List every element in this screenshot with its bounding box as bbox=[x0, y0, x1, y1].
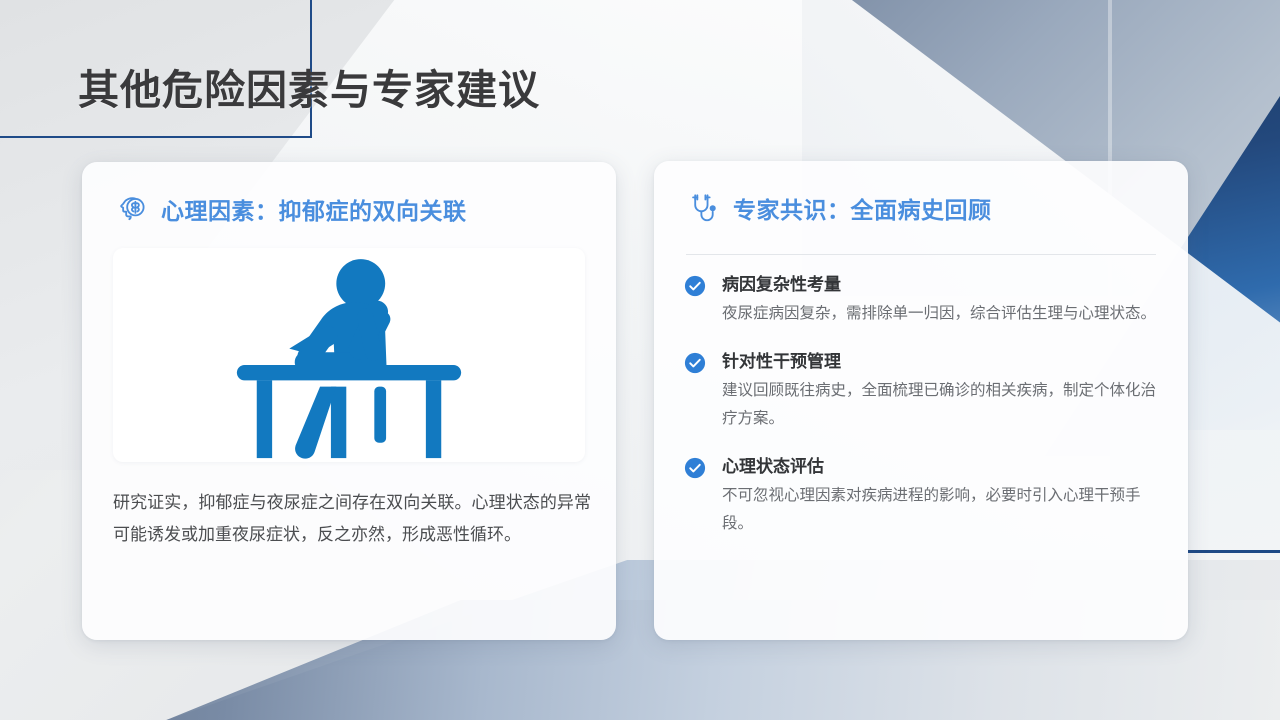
list-item-desc: 建议回顾既往病史，全面梳理已确诊的相关疾病，制定个体化治疗方案。 bbox=[722, 377, 1160, 433]
background-navy-rule-right bbox=[1188, 550, 1280, 553]
card-psychological-factors: 心理因素：抑郁症的双向关联 bbox=[82, 162, 616, 640]
list-item-title: 心理状态评估 bbox=[722, 455, 1160, 479]
left-card-heading: 心理因素：抑郁症的双向关联 bbox=[161, 192, 467, 226]
list-item-desc: 不可忽视心理因素对疾病进程的影响，必要时引入心理干预手段。 bbox=[722, 482, 1160, 538]
slide-root: 其他危险因素与专家建议 心理因素：抑郁症的双向关联 bbox=[0, 0, 1280, 720]
list-item: 针对性干预管理 建议回顾既往病史，全面梳理已确诊的相关疾病，制定个体化治疗方案。 bbox=[684, 350, 1160, 433]
check-circle-icon bbox=[684, 275, 706, 297]
list-item-title: 病因复杂性考量 bbox=[722, 273, 1160, 297]
list-item-title: 针对性干预管理 bbox=[722, 350, 1160, 374]
card-expert-consensus: 专家共识：全面病史回顾 病因复杂性考量 夜尿症病因复杂，需排除单一归因，综合评估… bbox=[654, 161, 1188, 640]
list-item: 病因复杂性考量 夜尿症病因复杂，需排除单一归因，综合评估生理与心理状态。 bbox=[684, 273, 1160, 328]
stethoscope-icon bbox=[686, 191, 720, 225]
right-card-divider bbox=[686, 254, 1156, 255]
expert-consensus-list: 病因复杂性考量 夜尿症病因复杂，需排除单一归因，综合评估生理与心理状态。 针对性… bbox=[684, 273, 1160, 538]
check-circle-icon bbox=[684, 457, 706, 479]
depressed-person-at-desk-illustration bbox=[113, 248, 585, 462]
page-title: 其他危险因素与专家建议 bbox=[78, 56, 540, 116]
right-card-header: 专家共识：全面病史回顾 bbox=[686, 191, 992, 225]
check-circle-icon bbox=[684, 352, 706, 374]
right-card-heading: 专家共识：全面病史回顾 bbox=[733, 191, 992, 225]
list-item: 心理状态评估 不可忽视心理因素对疾病进程的影响，必要时引入心理干预手段。 bbox=[684, 455, 1160, 538]
left-card-header: 心理因素：抑郁症的双向关联 bbox=[114, 192, 467, 226]
left-card-paragraph: 研究证实，抑郁症与夜尿症之间存在双向关联。心理状态的异常可能诱发或加重夜尿症状，… bbox=[113, 487, 591, 551]
list-item-desc: 夜尿症病因复杂，需排除单一归因，综合评估生理与心理状态。 bbox=[722, 300, 1160, 328]
head-brain-icon bbox=[114, 192, 148, 226]
